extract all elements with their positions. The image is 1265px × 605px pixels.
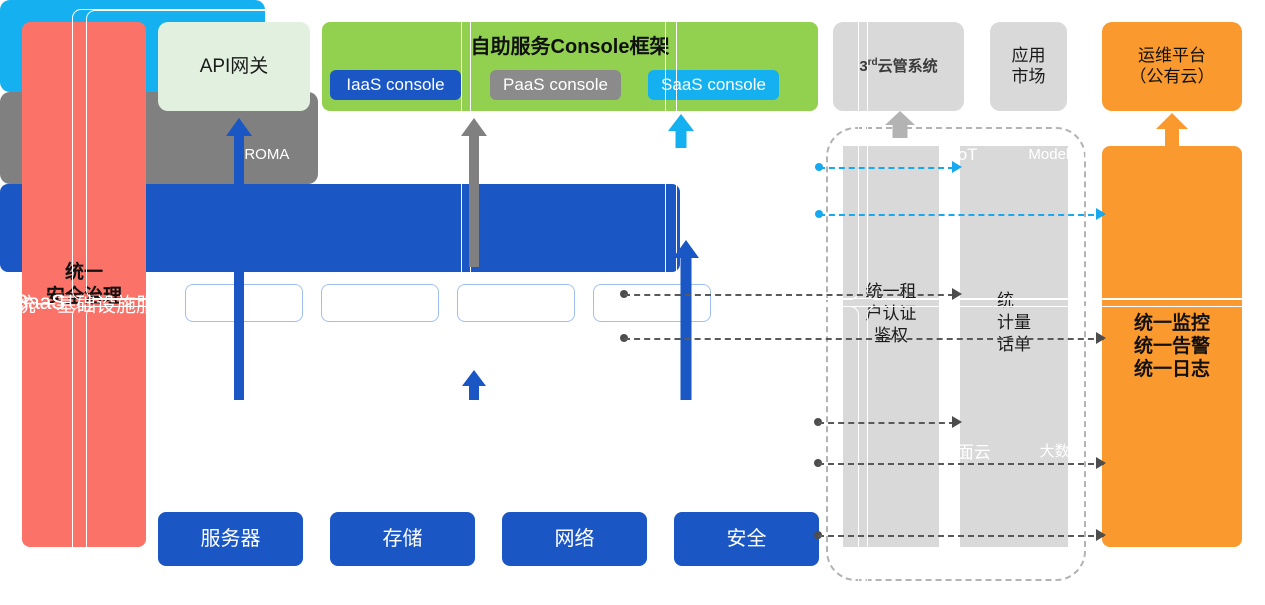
resource-dashed-arrowhead	[1096, 529, 1106, 541]
resource-box-security: 安全	[674, 512, 819, 566]
arrow-saas-to-saas-console-icon	[668, 114, 694, 148]
paas-dashed-line-1	[624, 294, 954, 296]
arrow-ops-side-to-ops-top-icon	[1156, 113, 1188, 146]
iaas-chip-network[interactable]: Network	[457, 284, 575, 322]
saas-dashed-arrowhead-2	[1096, 208, 1106, 220]
resource-box-network: 网络	[502, 512, 647, 566]
iaas-chip-storage[interactable]: Storage	[321, 284, 439, 322]
iaas-service-chips: Compute Storage Network CCE	[185, 284, 711, 322]
resource-box-storage: 存储	[330, 512, 475, 566]
paas-dashed-line-2	[624, 338, 1104, 340]
paas-chip-bigdata[interactable]: 大数据	[867, 306, 1257, 597]
arrow-iaas-to-api-gateway-icon	[226, 118, 252, 400]
resource-box-server: 服务器	[158, 512, 303, 566]
arrow-iaas-to-saas-icon	[673, 240, 699, 400]
resource-dashed-line	[818, 535, 1104, 537]
saas-dashed-arrowhead-1	[952, 161, 962, 173]
arrow-shared-to-third-party-icon	[885, 111, 915, 138]
paas-chip-roma[interactable]: ROMA	[72, 9, 462, 300]
iaas-dashed-arrowhead-2	[1096, 457, 1106, 469]
saas-dashed-line-2	[819, 214, 1104, 216]
arrow-paas-to-console-icon	[461, 118, 487, 267]
paas-dashed-arrowhead-2	[1096, 332, 1106, 344]
paas-chip-modelarts[interactable]: ModelArts	[867, 9, 1257, 300]
paas-dashed-arrowhead-1	[952, 288, 962, 300]
iaas-dashed-arrowhead-1	[952, 416, 962, 428]
iaas-layer-label: 统一基础设施服务	[16, 288, 176, 317]
iaas-dashed-line-1	[818, 422, 955, 424]
arrow-iaas-to-paas-icon	[462, 370, 486, 400]
paas-chip-dgc[interactable]: DGC	[470, 9, 860, 300]
iaas-dashed-line-2	[818, 463, 1104, 465]
architecture-diagram: 统一 安全治理 API网关 自助服务Console框架 IaaS console…	[0, 0, 1265, 605]
saas-dashed-line-1	[819, 167, 954, 169]
